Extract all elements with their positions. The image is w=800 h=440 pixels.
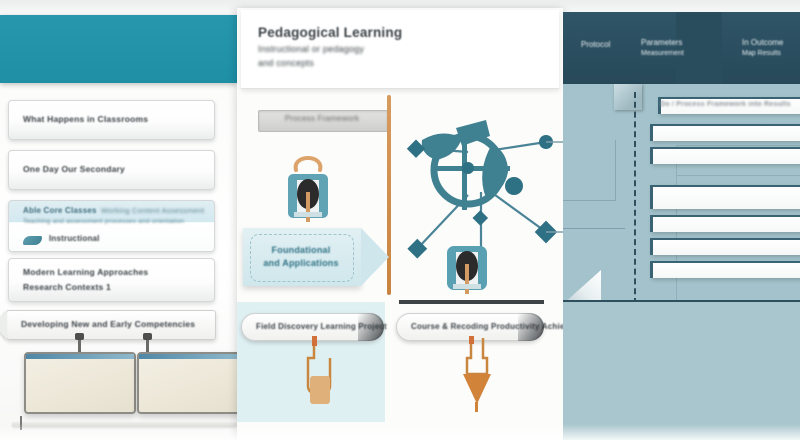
header-column-2-line2: Map Results [742,50,781,57]
sidebar-item-sublabel: Teaching and assessment processes and or… [23,218,184,225]
process-field-label: Process Framework [258,114,386,123]
divider-line [563,228,625,229]
box-top-strip [139,354,239,359]
arrow-banner-line2: and Applications [251,258,351,268]
screenshot-canvas: What Happens in Classrooms One Day Our S… [0,0,800,440]
header-column-1-line2: Measurement [641,50,684,57]
sidebar-banner[interactable]: Developing New and Early Competencies [6,310,216,340]
arrow-banner-line1: Foundational [251,245,351,255]
bottom-glow [0,424,800,440]
header-column-2-line1: In Outcome [742,38,783,47]
sidebar-item-sublabel: Research Contexts 1 [23,282,111,292]
connector-stem [78,338,81,352]
card-cap-icon [192,100,238,140]
sidebar-item-3[interactable]: Modern Learning Approaches Research Cont… [8,258,215,302]
sidebar-item-0[interactable]: What Happens in Classrooms [8,100,215,140]
card-cap-icon [192,150,238,190]
sidebar-item-2[interactable]: Able Core Classes Working Content Assess… [8,200,215,252]
header-column-1-line1: Parameters [641,38,682,47]
sidebar-box-0[interactable] [24,352,136,414]
page-subtitle-line1: Instructional or pedagogy [258,44,364,54]
flask-icon [278,140,338,226]
page-title: Pedagogical Learning [258,25,402,40]
sidebar-item-1[interactable]: One Day Our Secondary [8,150,215,190]
page-subtitle-line2: and concepts [258,58,314,68]
baseline-rule [399,300,544,304]
bottom-card-label: Course & Recoding Productivity Achieved [411,322,579,331]
bracket-line [563,140,616,201]
right-row-header-label: Do / Process Framework into Results [660,101,791,108]
sidebar-item-label: One Day Our Secondary [23,164,125,174]
sidebar-item-label-extra: Working Content Assessment [101,206,204,215]
right-row[interactable] [650,238,800,255]
sidebar-item-label: Modern Learning Approaches [23,267,148,277]
right-row[interactable] [650,261,800,278]
page-fold-icon [614,84,642,110]
sidebar-subitem-label: Instructional [49,234,100,243]
sidebar-box-1[interactable] [137,352,241,414]
banner-cap-icon [195,310,235,340]
sidebar-item-label: What Happens in Classrooms [23,114,148,124]
flask-icon [298,336,338,412]
dashed-separator-icon [634,92,636,304]
right-row[interactable] [650,147,800,164]
right-panel-tab[interactable] [676,12,722,84]
right-row[interactable] [650,124,800,141]
right-row[interactable] [650,185,800,209]
sidebar-item-label: Able Core Classes [23,206,97,215]
right-panel-lower [563,302,800,440]
right-divider-1 [676,145,800,146]
right-row[interactable] [650,215,800,232]
flask-node-icon [437,240,497,302]
teal-header-block [0,15,237,83]
header-column-0-line1: Protocol [581,40,610,49]
funnel-flask-icon [455,336,499,414]
right-divider-2 [676,175,800,176]
bottom-card-label: Field Discovery Learning Project [256,322,387,331]
connector-stem [146,338,149,352]
box-top-strip [26,354,134,359]
leaf-icon [23,236,42,245]
sidebar-banner-label: Developing New and Early Competencies [21,319,195,329]
card-cap-icon [192,258,238,302]
